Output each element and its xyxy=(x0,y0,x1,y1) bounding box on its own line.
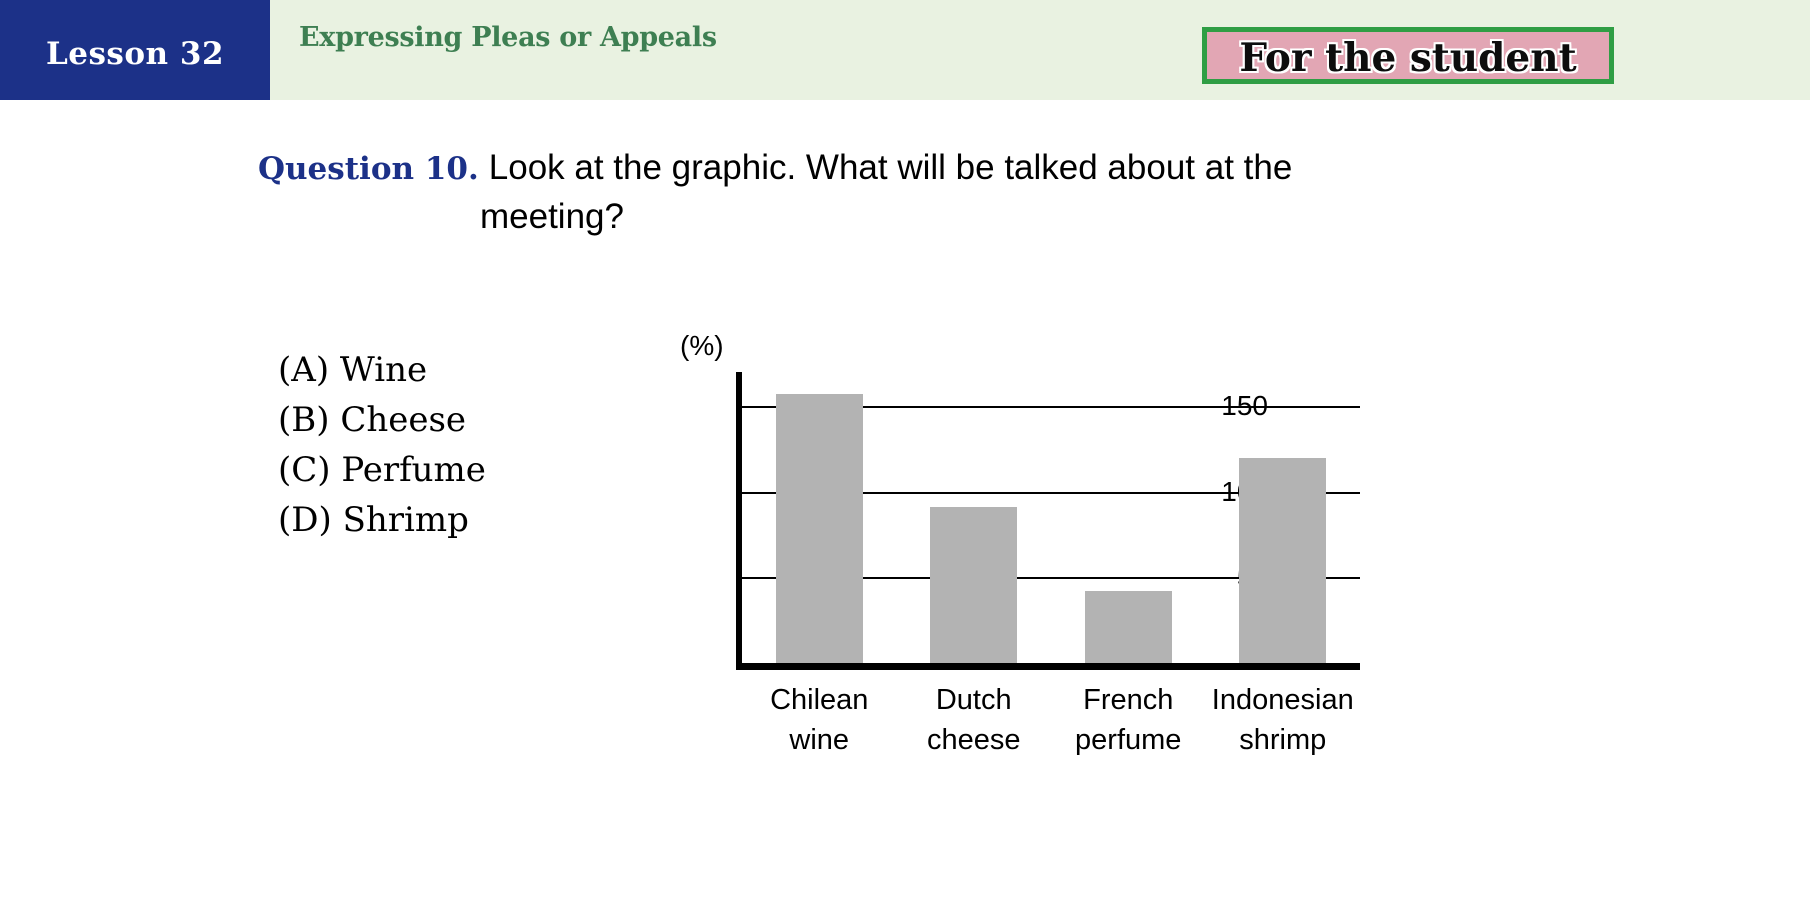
option-b[interactable]: (B) Cheese xyxy=(278,395,486,445)
chart-plot-area: 50100150ChileanwineDutchcheeseFrenchperf… xyxy=(742,372,1360,663)
option-c[interactable]: (C) Perfume xyxy=(278,445,486,495)
y-axis-line xyxy=(736,372,742,666)
question-first-line: Question 10.Look at the graphic. What wi… xyxy=(258,150,1558,185)
x-axis-line xyxy=(736,663,1360,670)
bar-chart: (%) 50100150ChileanwineDutchcheeseFrench… xyxy=(660,330,1400,850)
x-axis-tick-label-line: Dutch xyxy=(897,680,1052,720)
question-block: Question 10.Look at the graphic. What wi… xyxy=(258,150,1558,237)
bar xyxy=(1239,458,1326,663)
chart-unit-label: (%) xyxy=(680,330,724,362)
question-number: Question 10. xyxy=(258,151,479,187)
option-a[interactable]: (A) Wine xyxy=(278,345,486,395)
y-axis-tick-label: 150 xyxy=(1221,390,1268,422)
x-axis-tick-label: Chileanwine xyxy=(742,680,897,760)
question-second-line: meeting? xyxy=(480,197,1558,237)
x-axis-tick-label-line: wine xyxy=(742,720,897,760)
x-axis-tick-label-line: Indonesian xyxy=(1206,680,1361,720)
answer-options: (A) Wine (B) Cheese (C) Perfume (D) Shri… xyxy=(278,345,486,545)
for-the-student-label: For the student xyxy=(1207,35,1609,81)
x-axis-tick-label-line: Chilean xyxy=(742,680,897,720)
lesson-subtitle: Expressing Pleas or Appeals xyxy=(299,22,717,53)
option-d[interactable]: (D) Shrimp xyxy=(278,495,486,545)
bar xyxy=(1085,591,1172,663)
x-axis-tick-label: Dutchcheese xyxy=(897,680,1052,760)
page-header: Lesson 32 Expressing Pleas or Appeals Fo… xyxy=(0,0,1810,100)
lesson-label: Lesson 32 xyxy=(0,36,270,72)
x-axis-tick-label-line: shrimp xyxy=(1206,720,1361,760)
lesson-badge: Lesson 32 xyxy=(0,0,270,100)
x-axis-tick-label: Indonesianshrimp xyxy=(1206,680,1361,760)
x-axis-tick-label-line: perfume xyxy=(1051,720,1206,760)
x-axis-tick-label-line: French xyxy=(1051,680,1206,720)
for-the-student-badge: For the student xyxy=(1202,27,1614,84)
question-text: Look at the graphic. What will be talked… xyxy=(489,148,1293,187)
x-axis-tick-label: Frenchperfume xyxy=(1051,680,1206,760)
bar xyxy=(776,394,863,663)
bar xyxy=(930,507,1017,663)
x-axis-tick-label-line: cheese xyxy=(897,720,1052,760)
